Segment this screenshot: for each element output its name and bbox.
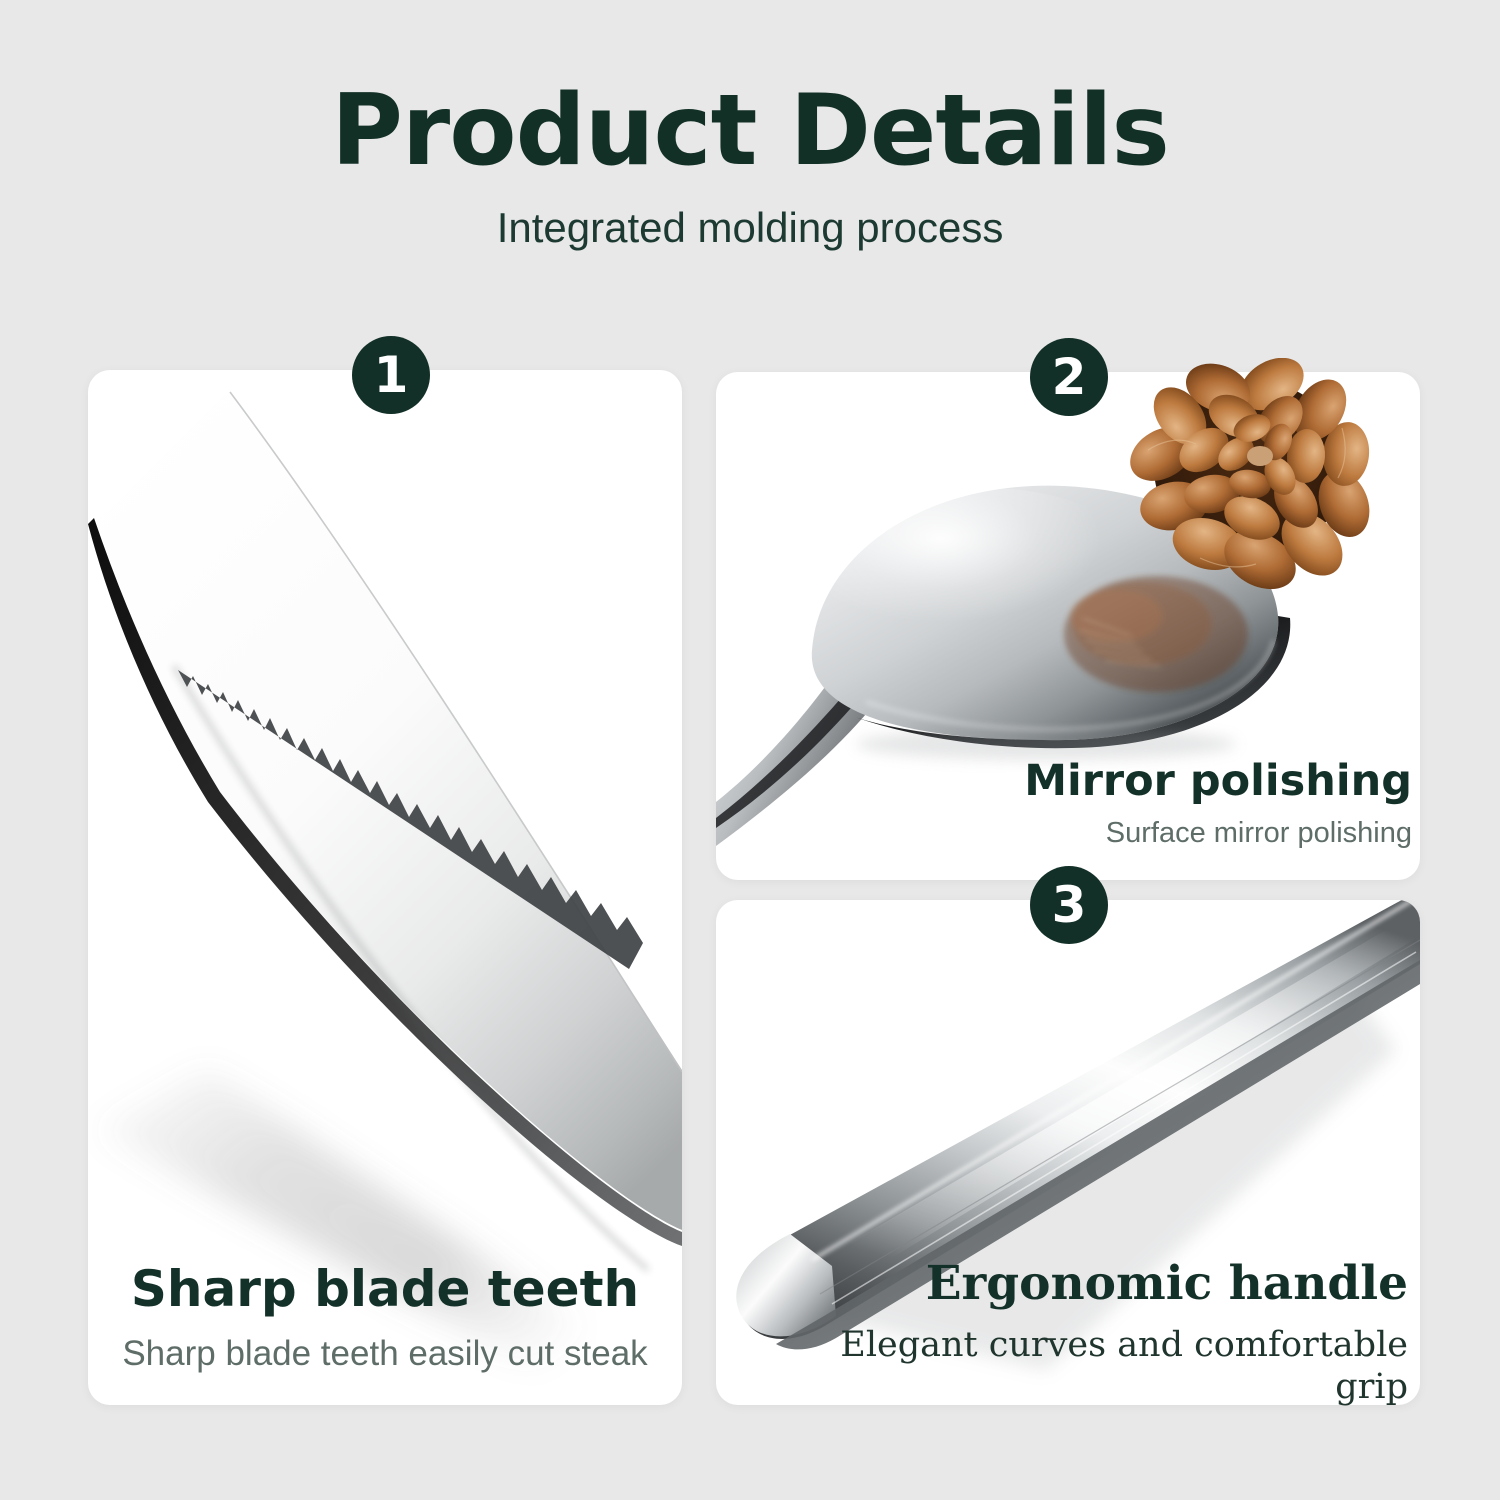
headline-mirror-polishing: Mirror polishing — [1000, 758, 1412, 805]
headline-ergonomic-handle: Ergonomic handle — [820, 1258, 1408, 1310]
page-subtitle: Integrated molding process — [0, 182, 1500, 252]
step-badge-2: 2 — [1030, 338, 1108, 416]
caption-sharp-blade-teeth: Sharp blade teeth Sharp blade teeth easi… — [88, 1262, 682, 1375]
blade-illustration — [88, 370, 682, 1405]
page-header: Product Details Integrated molding proce… — [0, 0, 1500, 252]
subtext-sharp-blade-teeth: Sharp blade teeth easily cut steak — [88, 1317, 682, 1375]
subtext-ergonomic-handle: Elegant curves and comfortable grip — [820, 1310, 1408, 1408]
page-title: Product Details — [0, 0, 1500, 182]
headline-sharp-blade-teeth: Sharp blade teeth — [88, 1262, 682, 1317]
step-badge-3: 3 — [1030, 866, 1108, 944]
step-badge-1: 1 — [352, 336, 430, 414]
caption-ergonomic-handle: Ergonomic handle Elegant curves and comf… — [820, 1258, 1408, 1408]
card-sharp-blade-teeth[interactable] — [88, 370, 682, 1405]
caption-mirror-polishing: Mirror polishing Surface mirror polishin… — [1000, 758, 1412, 851]
subtext-mirror-polishing: Surface mirror polishing — [1000, 805, 1412, 851]
